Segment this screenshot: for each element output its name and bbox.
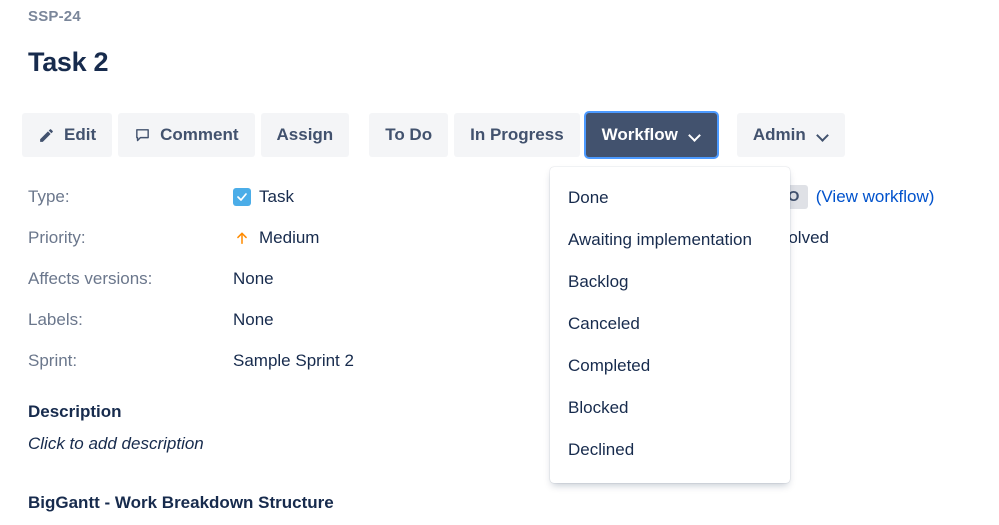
menu-item-done[interactable]: Done [550, 177, 790, 219]
field-labels: Labels: None [28, 308, 568, 332]
todo-transition-button[interactable]: To Do [369, 113, 448, 157]
chevron-down-icon [689, 129, 701, 141]
field-value-type: Task [233, 185, 294, 209]
field-row: Type: Task Status: To Do (View workflow) [28, 185, 968, 226]
field-label-affects-versions: Affects versions: [28, 267, 233, 291]
edit-button[interactable]: Edit [22, 113, 112, 157]
field-value-affects-versions: None [233, 267, 274, 291]
field-value-type-text: Task [259, 185, 294, 209]
biggantt-heading: BigGantt - Work Breakdown Structure [28, 493, 334, 513]
field-row: Priority: Medium Resolution: Unresolved [28, 226, 968, 267]
field-label-sprint: Sprint: [28, 349, 233, 373]
chevron-down-icon [817, 129, 829, 141]
field-row: Labels: None [28, 308, 968, 349]
comment-button[interactable]: Comment [118, 113, 254, 157]
field-value-labels: None [233, 308, 274, 332]
pencil-icon [38, 127, 55, 144]
field-sprint: Sprint: Sample Sprint 2 [28, 349, 568, 373]
workflow-dropdown-button[interactable]: Workflow [586, 113, 717, 157]
field-priority: Priority: Medium [28, 226, 568, 250]
workflow-button-label: Workflow [602, 125, 678, 145]
assign-button[interactable]: Assign [261, 113, 350, 157]
issue-view: SSP-24 Task 2 Edit Comment Assign To D [0, 0, 999, 525]
todo-button-label: To Do [385, 125, 432, 145]
field-value-sprint: Sample Sprint 2 [233, 349, 354, 373]
in-progress-transition-button[interactable]: In Progress [454, 113, 580, 157]
description-placeholder[interactable]: Click to add description [28, 434, 204, 454]
assign-button-label: Assign [277, 125, 334, 145]
menu-item-completed[interactable]: Completed [550, 345, 790, 387]
menu-item-blocked[interactable]: Blocked [550, 387, 790, 429]
workflow-dropdown-menu: Done Awaiting implementation Backlog Can… [550, 167, 790, 483]
speech-bubble-icon [134, 127, 151, 144]
menu-item-declined[interactable]: Declined [550, 429, 790, 471]
field-row: Affects versions: None Fix versions: Non… [28, 267, 968, 308]
menu-item-canceled[interactable]: Canceled [550, 303, 790, 345]
view-workflow-link[interactable]: (View workflow) [816, 185, 935, 209]
comment-button-label: Comment [160, 125, 238, 145]
field-type: Type: Task [28, 185, 568, 209]
field-affects-versions: Affects versions: None [28, 267, 568, 291]
description-heading: Description [28, 402, 122, 422]
breadcrumb-issue-key[interactable]: SSP-24 [28, 8, 81, 25]
field-label-labels: Labels: [28, 308, 233, 332]
task-checkbox-icon [233, 188, 251, 206]
field-value-priority: Medium [233, 226, 319, 250]
in-progress-button-label: In Progress [470, 125, 564, 145]
edit-button-label: Edit [64, 125, 96, 145]
field-label-type: Type: [28, 185, 233, 209]
field-value-priority-text: Medium [259, 226, 319, 250]
admin-button-label: Admin [753, 125, 806, 145]
menu-item-awaiting-implementation[interactable]: Awaiting implementation [550, 219, 790, 261]
page-title: Task 2 [28, 47, 108, 78]
issue-details-grid: Type: Task Status: To Do (View workflow) [28, 185, 968, 390]
priority-arrow-up-icon [233, 229, 251, 247]
admin-dropdown-button[interactable]: Admin [737, 113, 845, 157]
issue-toolbar: Edit Comment Assign To Do In Progress Wo… [22, 113, 845, 157]
field-label-priority: Priority: [28, 226, 233, 250]
field-row: Sprint: Sample Sprint 2 [28, 349, 968, 390]
menu-item-backlog[interactable]: Backlog [550, 261, 790, 303]
